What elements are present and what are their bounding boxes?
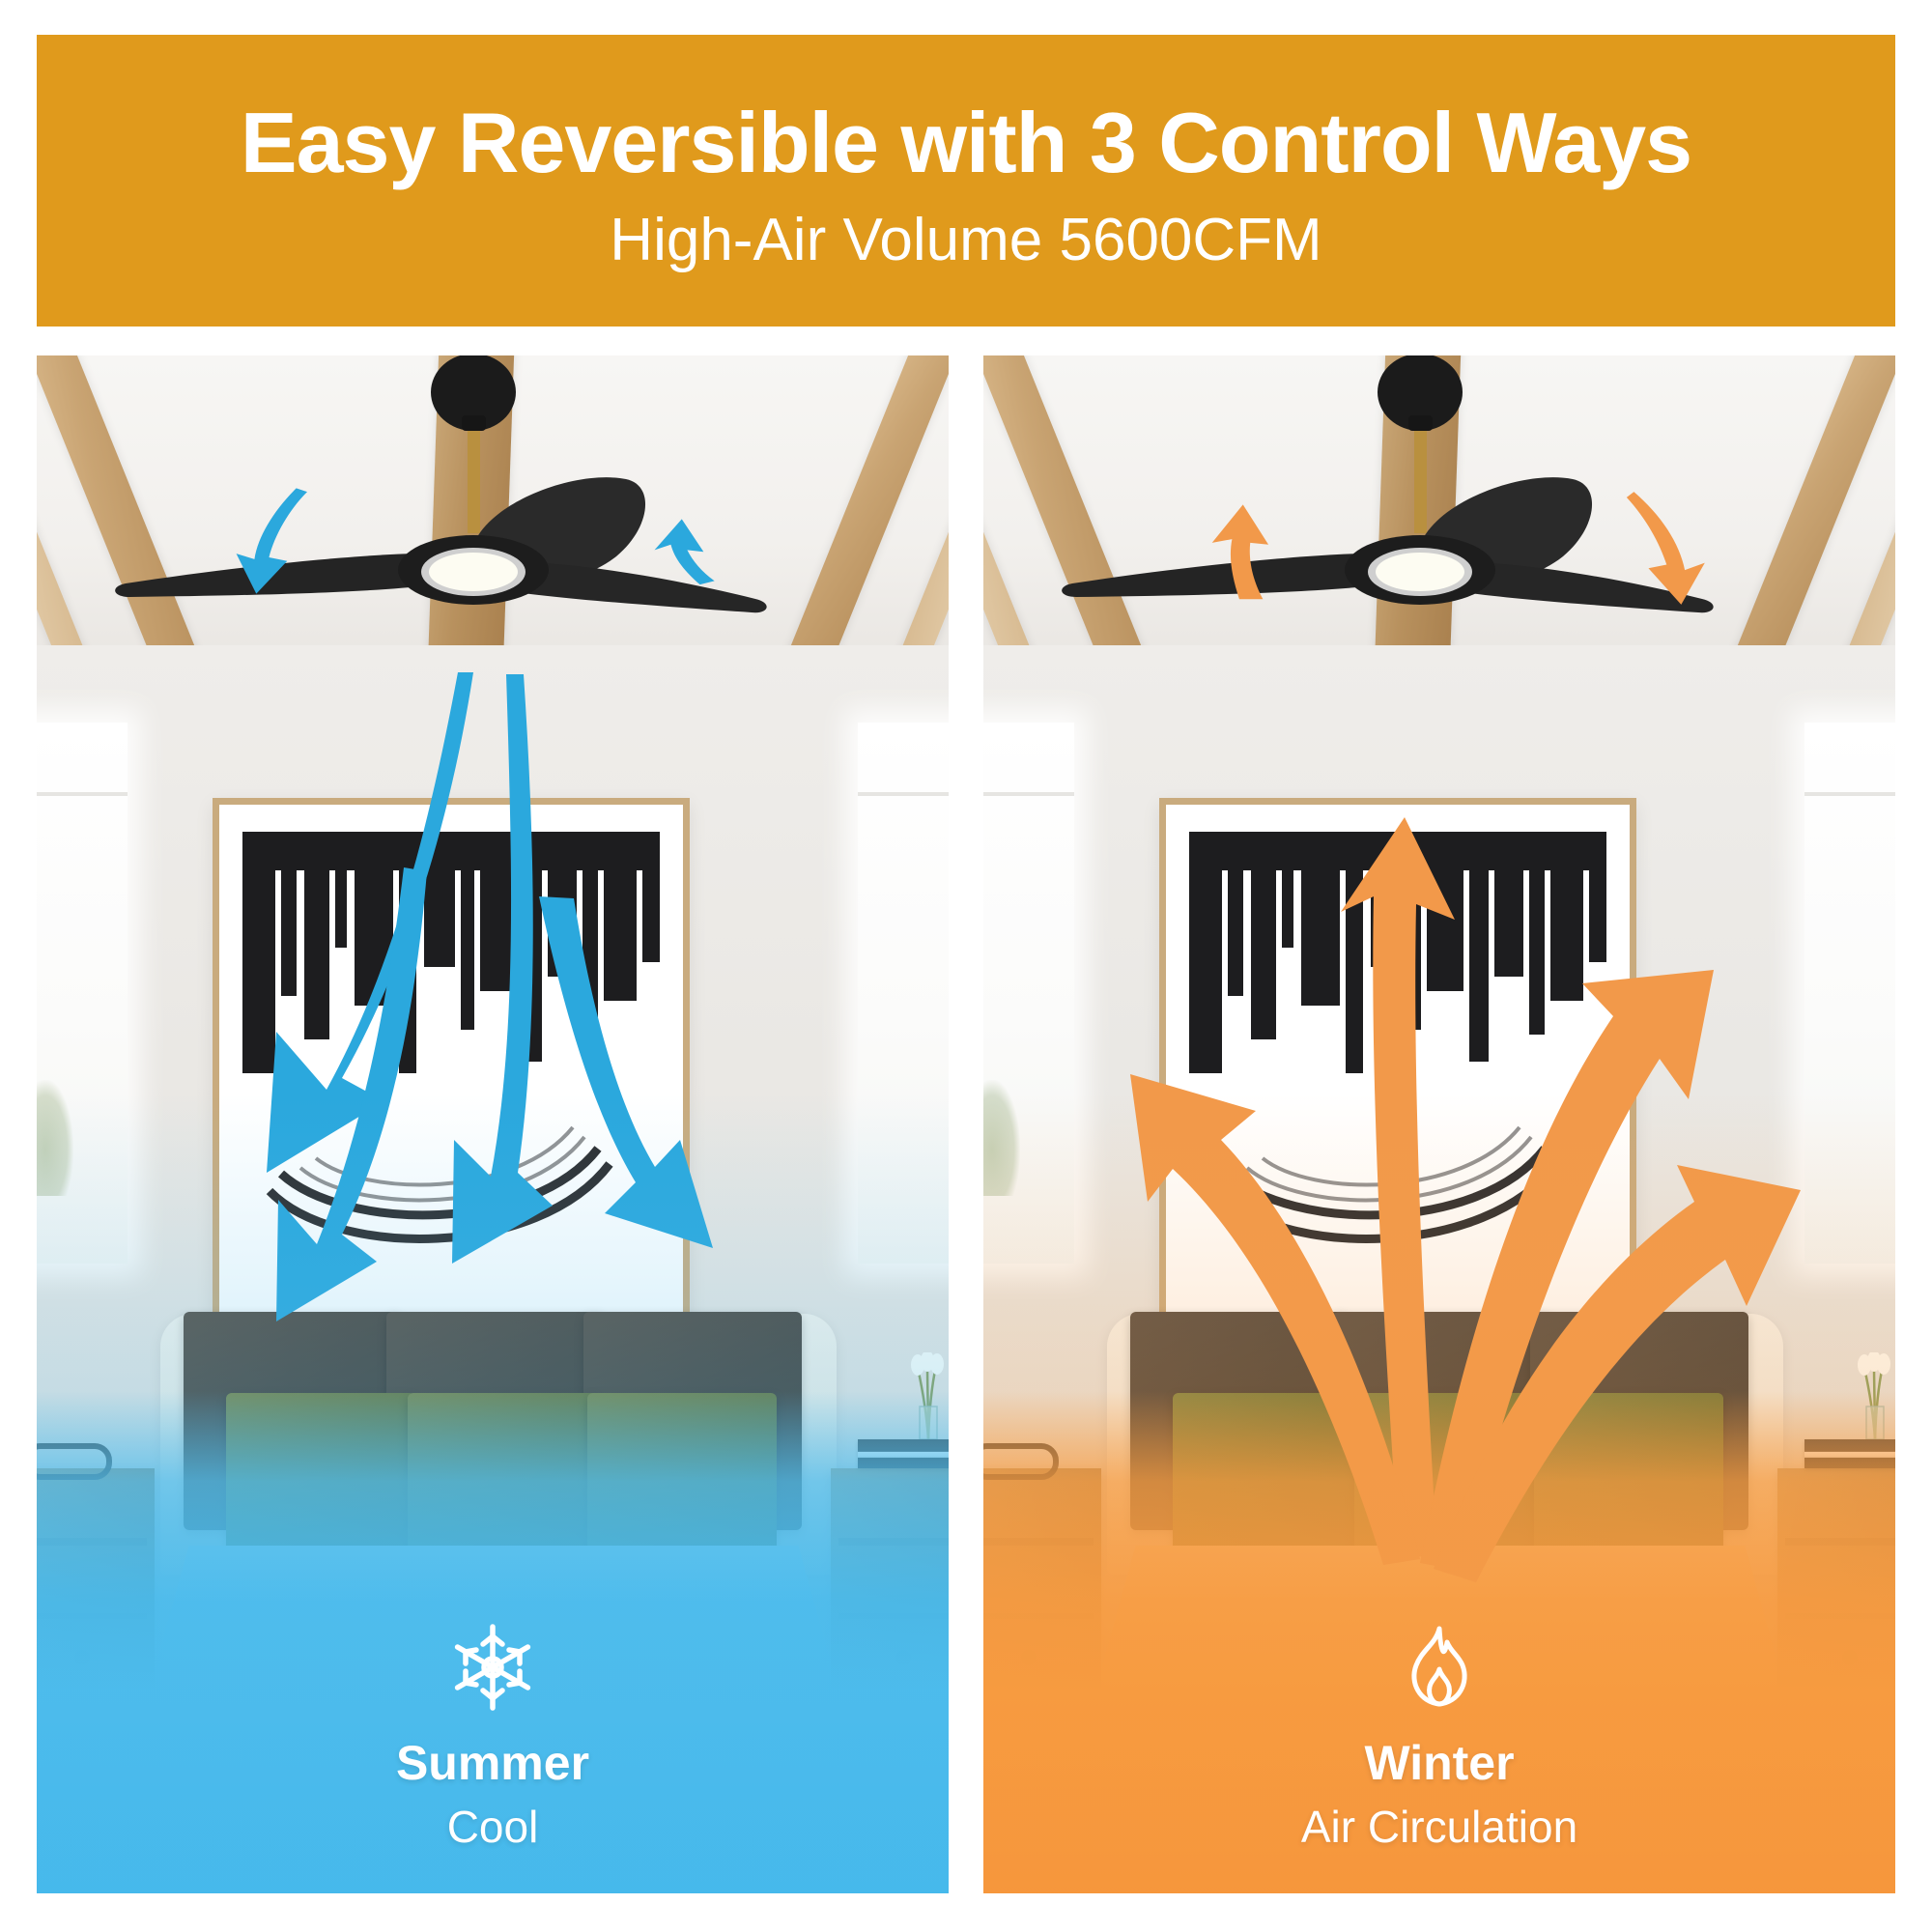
flame-icon [1393, 1621, 1486, 1714]
caption-summer: Summer Cool [37, 1621, 949, 1849]
wall-artwork [1159, 798, 1636, 1323]
artwork-brushstrokes [219, 805, 683, 1317]
panel-winter: Winter Air Circulation [983, 355, 1895, 1893]
caption-subtitle: Air Circulation [983, 1804, 1895, 1849]
nightstand-drawer [1785, 1613, 1895, 1619]
window-tree [37, 1080, 73, 1196]
nightstand-shelf [37, 1538, 147, 1546]
window-right [1804, 723, 1895, 1264]
nightstand-drawer [838, 1613, 949, 1619]
wall-artwork [213, 798, 690, 1323]
page-title: Easy Reversible with 3 Control Ways [241, 100, 1691, 185]
header-banner: Easy Reversible with 3 Control Ways High… [37, 35, 1895, 327]
artwork-brushstrokes [1166, 805, 1630, 1317]
ceiling-fan-icon [37, 355, 949, 665]
eyeglasses-icon [37, 1443, 112, 1480]
caption-title: Summer [37, 1739, 949, 1787]
flower-vase-icon [1853, 1352, 1895, 1441]
nightstand-drawer [983, 1613, 1094, 1619]
snowflake-icon [446, 1621, 539, 1714]
stacked-books [1804, 1439, 1895, 1468]
ceiling [983, 355, 1895, 665]
nightstand-shelf [983, 1538, 1094, 1546]
nightstand-shelf [1785, 1538, 1895, 1546]
caption-winter: Winter Air Circulation [983, 1621, 1895, 1849]
window-tree [983, 1080, 1020, 1196]
window-right [858, 723, 949, 1264]
bedroom-scene-summer: Summer Cool [37, 355, 949, 1893]
eyeglasses-icon [983, 1443, 1059, 1480]
stacked-books [858, 1439, 949, 1468]
nightstand-drawer [37, 1613, 147, 1619]
panel-summer: Summer Cool [37, 355, 949, 1893]
ceiling [37, 355, 949, 665]
window-left [983, 723, 1074, 1264]
flower-vase-icon [906, 1352, 949, 1441]
caption-title: Winter [983, 1739, 1895, 1787]
ceiling-fan-icon [983, 355, 1895, 665]
window-left [37, 723, 128, 1264]
nightstand-shelf [838, 1538, 949, 1546]
page-subtitle: High-Air Volume 5600CFM [610, 211, 1321, 270]
bedroom-scene-winter: Winter Air Circulation [983, 355, 1895, 1893]
caption-subtitle: Cool [37, 1804, 949, 1849]
